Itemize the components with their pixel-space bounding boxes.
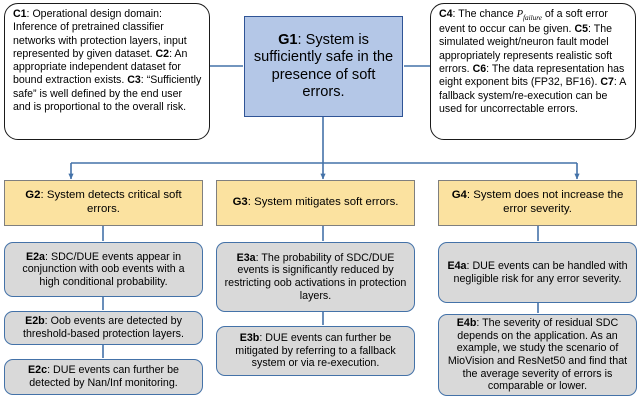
goal-tag-g3: G3	[233, 196, 248, 208]
evidence-tag-e2b: E2b	[25, 315, 45, 327]
p-failure-symbol: Pfailure	[517, 9, 542, 20]
context-text-c4-before: The chance	[458, 8, 516, 20]
evidence-e2a-text: E2a: SDC/DUE events appear in conjunctio…	[11, 251, 196, 289]
evidence-text-e4a: DUE events can be handled with negligibl…	[454, 260, 628, 285]
evidence-text-e2b: Oob events are detected by threshold-bas…	[23, 315, 184, 340]
evidence-box-e4b[interactable]: E4b: The severity of residual SDC depend…	[438, 314, 637, 396]
evidence-e2b-text: E2b: Oob events are detected by threshol…	[11, 315, 196, 340]
context-box-left: C1: Operational design domain: Inference…	[4, 3, 210, 140]
goal-box-g4[interactable]: G4: System does not increase the error s…	[438, 180, 637, 226]
context-right-text: C4: The chance Pfailure of a soft error …	[439, 8, 628, 116]
goal-tag-g2: G2	[25, 189, 40, 201]
diagram-canvas: C1: Operational design domain: Inference…	[0, 0, 640, 400]
evidence-e4a-text: E4a: DUE events can be handled with negl…	[445, 260, 630, 285]
context-left-text: C1: Operational design domain: Inference…	[13, 8, 202, 114]
context-tag-c2: C2	[156, 48, 170, 60]
context-tag-c5: C5	[574, 23, 588, 35]
p-failure-subscript: failure	[523, 14, 542, 22]
evidence-text-e3b: DUE events can further be mitigated by r…	[235, 332, 395, 369]
context-tag-c7: C7	[600, 76, 614, 88]
context-tag-c6: C6	[473, 63, 487, 75]
goal-box-g1[interactable]: G1: System is sufficiently safe in the p…	[244, 16, 403, 117]
evidence-box-e3b[interactable]: E3b: DUE events can further be mitigated…	[216, 326, 415, 376]
evidence-e3a-text: E3a: The probability of SDC/DUE events i…	[223, 252, 408, 303]
context-tag-c4: C4	[439, 8, 453, 20]
goal-g3-text: G3: System mitigates soft errors.	[222, 196, 409, 210]
context-tag-c3: C3	[127, 74, 141, 86]
goal-text-g3: System mitigates soft errors.	[254, 196, 398, 208]
goal-text-g4: System does not increase the error sever…	[473, 189, 623, 215]
evidence-box-e4a[interactable]: E4a: DUE events can be handled with negl…	[438, 242, 637, 303]
goal-text-g2: System detects critical soft errors.	[47, 189, 182, 215]
evidence-box-e2a[interactable]: E2a: SDC/DUE events appear in conjunctio…	[4, 242, 203, 297]
goal-tag-g1: G1	[278, 32, 297, 48]
goal-tag-g4: G4	[452, 189, 467, 201]
goal-text-g1: System is sufficiently safe in the prese…	[254, 32, 393, 101]
evidence-box-e2b[interactable]: E2b: Oob events are detected by threshol…	[4, 311, 203, 345]
evidence-tag-e3a: E3a	[237, 252, 256, 264]
evidence-box-e3a[interactable]: E3a: The probability of SDC/DUE events i…	[216, 242, 415, 312]
evidence-text-e2a: SDC/DUE events appear in conjunction wit…	[22, 251, 184, 288]
evidence-box-e2c[interactable]: E2c: DUE events can further be detected …	[4, 359, 203, 395]
evidence-tag-e2a: E2a	[26, 251, 45, 263]
evidence-tag-e4a: E4a	[447, 260, 466, 272]
evidence-text-e2c: DUE events can further be detected by Na…	[29, 364, 179, 389]
evidence-e2c-text: E2c: DUE events can further be detected …	[11, 364, 196, 389]
evidence-e3b-text: E3b: DUE events can further be mitigated…	[223, 332, 408, 370]
goal-g2-text: G2: System detects critical soft errors.	[10, 189, 197, 216]
evidence-tag-e4b: E4b	[457, 317, 477, 329]
context-box-right: C4: The chance Pfailure of a soft error …	[430, 3, 636, 140]
goal-box-g2[interactable]: G2: System detects critical soft errors.	[4, 180, 203, 226]
goal-g1-text: G1: System is sufficiently safe in the p…	[251, 32, 396, 102]
evidence-tag-e3b: E3b	[240, 332, 260, 344]
evidence-e4b-text: E4b: The severity of residual SDC depend…	[445, 317, 630, 393]
context-tag-c1: C1	[13, 8, 27, 20]
goal-box-g3[interactable]: G3: System mitigates soft errors.	[216, 180, 415, 226]
goal-g4-text: G4: System does not increase the error s…	[444, 189, 631, 216]
evidence-tag-e2c: E2c	[28, 364, 47, 376]
